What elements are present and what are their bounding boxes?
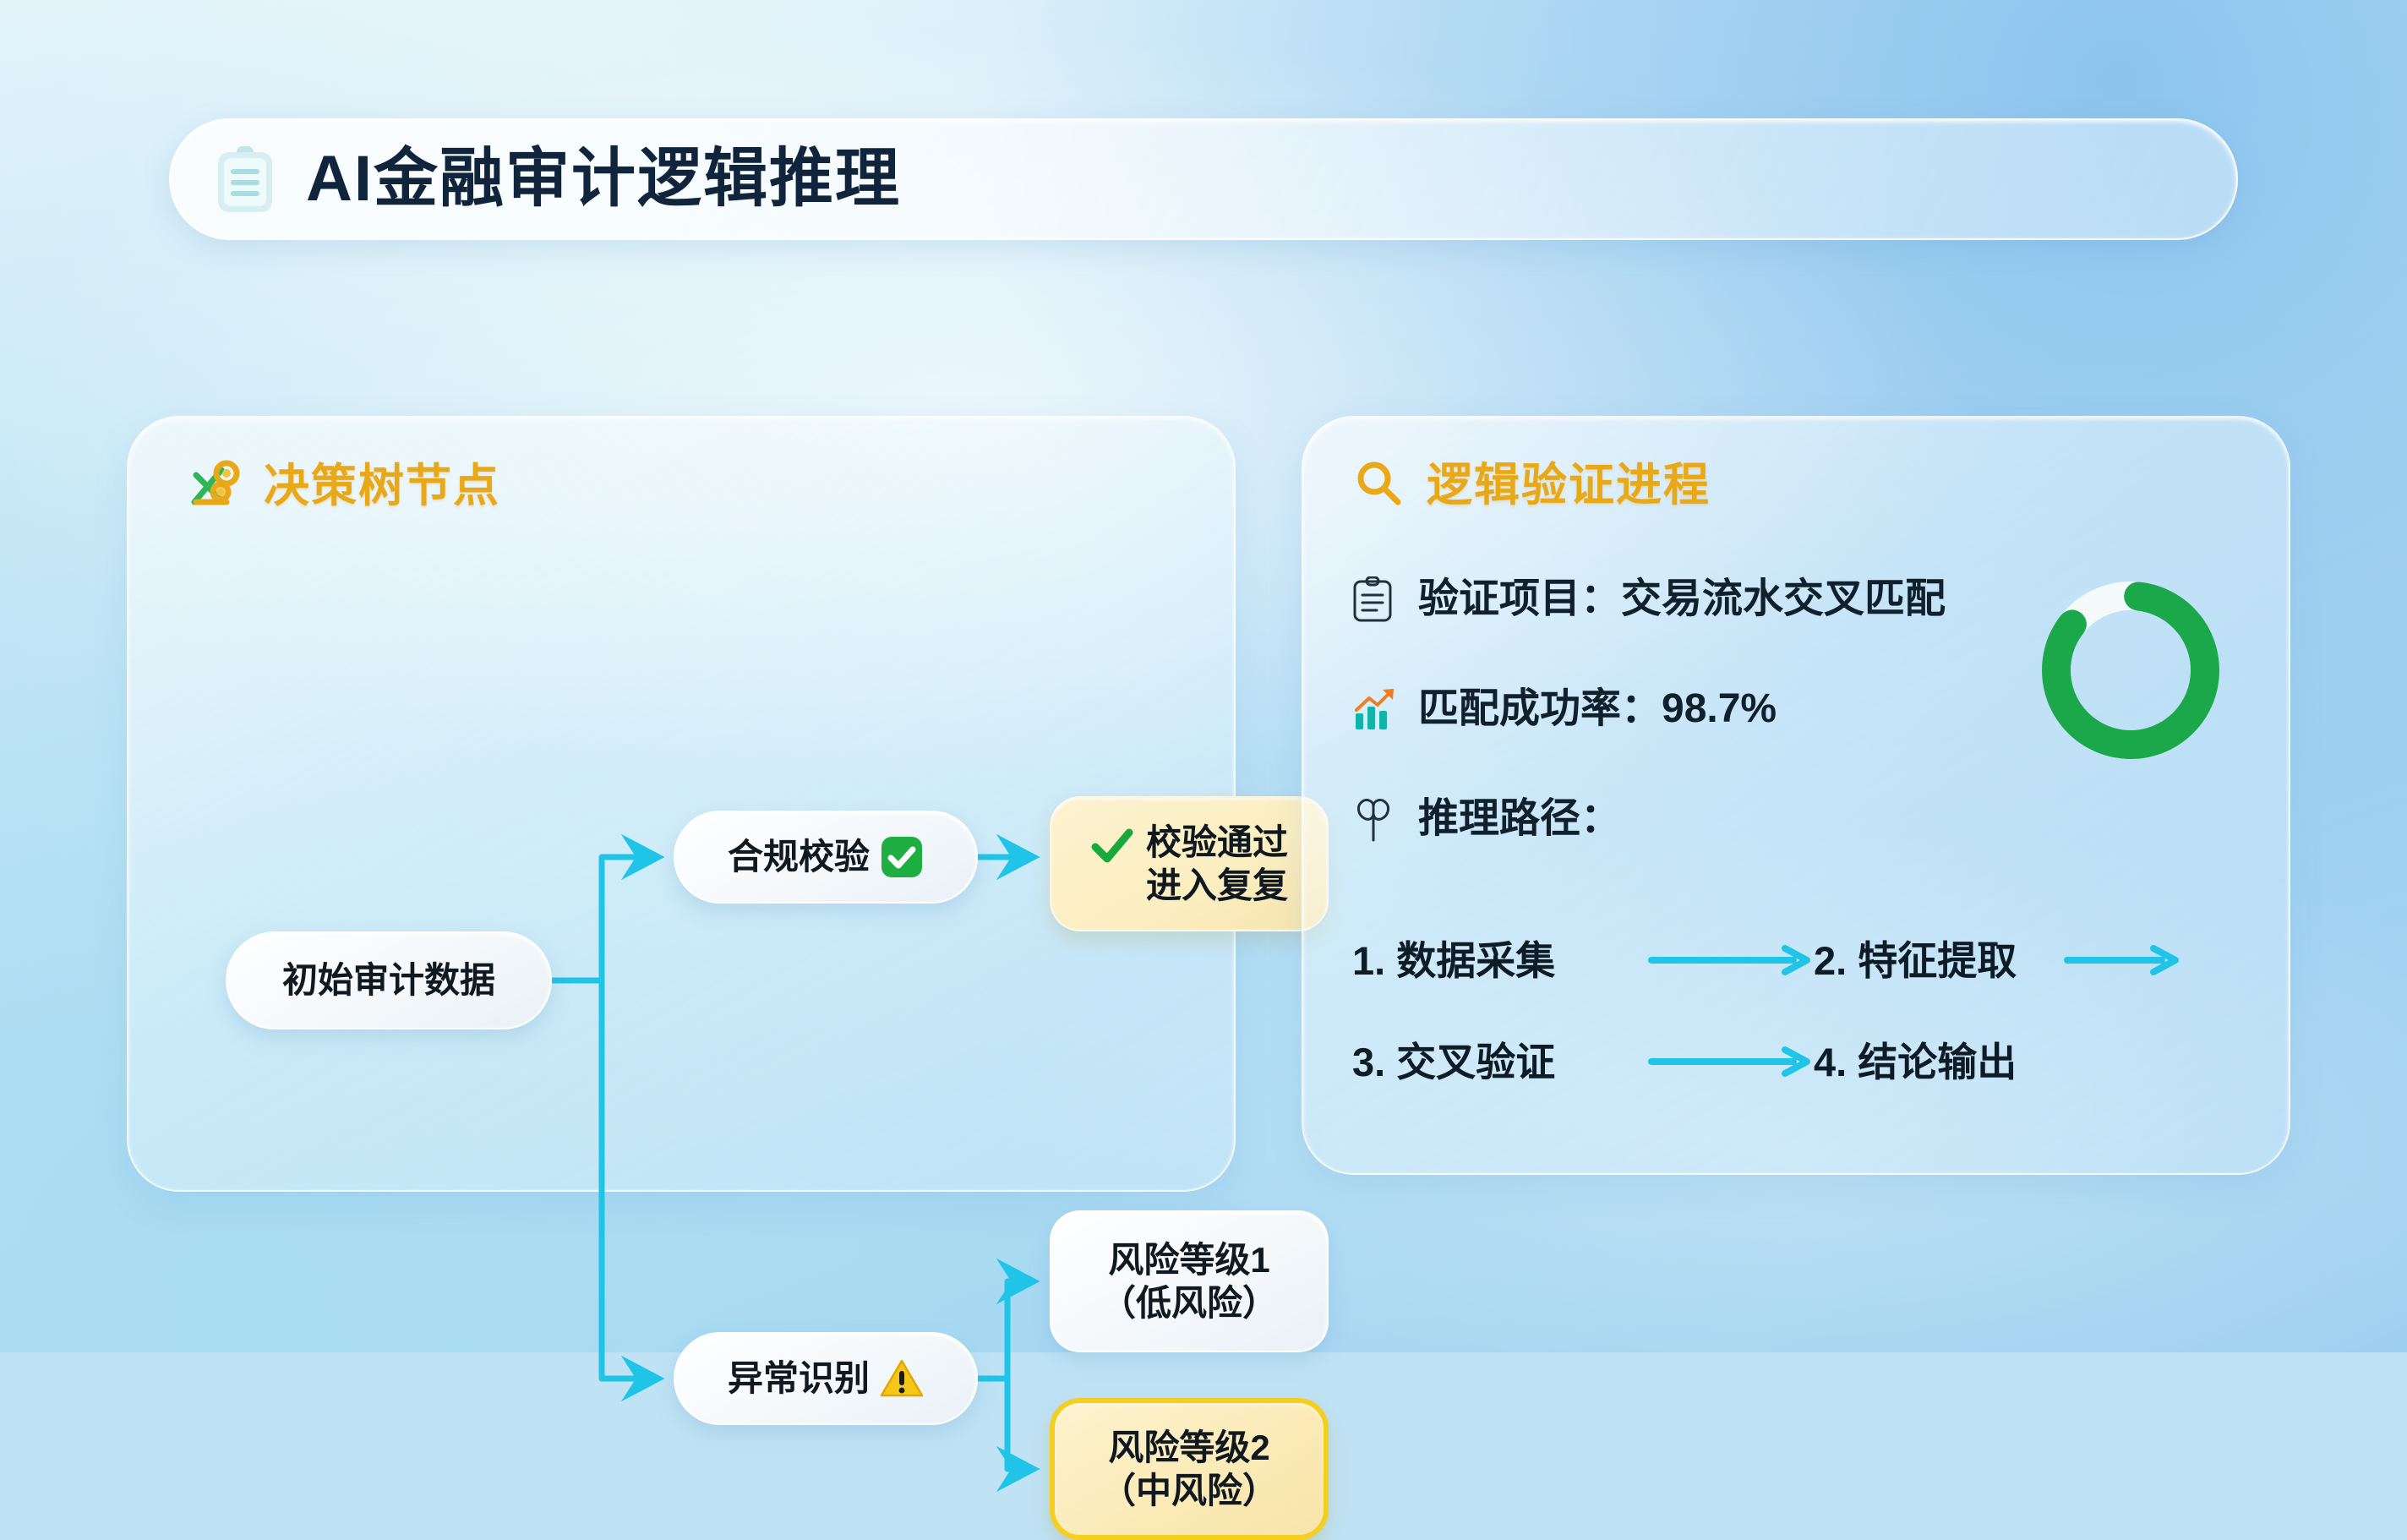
- tree-node-risk2-line1: 风险等级2: [1100, 1426, 1278, 1469]
- tree-node-risk-level-1[interactable]: 风险等级1 （低风险）: [1050, 1210, 1329, 1352]
- green-check-icon: [1090, 824, 1134, 868]
- clipboard-icon: [215, 145, 276, 214]
- tree-node-risk2-line2: （中风险）: [1100, 1469, 1278, 1512]
- clipboard-list-icon: [1352, 576, 1398, 622]
- tree-node-anomaly-label: 异常识别: [728, 1357, 870, 1400]
- match-rate-row: 匹配成功率：98.7%: [1352, 686, 1777, 732]
- reasoning-path-text: 推理路径：: [1418, 799, 1621, 839]
- match-rate-progress-ring: [2030, 570, 2231, 771]
- tree-node-root-label: 初始审计数据: [282, 958, 495, 1002]
- verification-progress-panel: 逻辑验证进程 验证项目：交易流水交叉匹配 匹配成功率：98.7%: [1302, 416, 2290, 1175]
- reasoning-step-3: 3. 交叉验证: [1352, 1042, 1648, 1082]
- tree-node-pass[interactable]: 校验通过 进入复复: [1050, 796, 1329, 931]
- chart-up-icon: [1352, 686, 1398, 732]
- tree-node-risk1-line1: 风险等级1: [1100, 1238, 1278, 1281]
- tree-node-anomaly[interactable]: 异常识别: [674, 1332, 978, 1425]
- step-arrow-icon-trailing: [2017, 943, 2182, 977]
- reasoning-step-2: 2. 特征提取: [1814, 941, 2017, 980]
- decision-tree: 初始审计数据 合规校验 异常识别: [128, 418, 1237, 1193]
- page-title: AI金融审计逻辑推理: [306, 147, 901, 211]
- tree-node-compliance[interactable]: 合规校验: [674, 811, 978, 904]
- tree-node-root[interactable]: 初始审计数据: [226, 931, 552, 1029]
- warning-triangle-icon: [880, 1357, 924, 1401]
- brain-icon: [1352, 796, 1398, 842]
- tree-node-pass-line1: 校验通过: [1146, 821, 1288, 864]
- reasoning-step-row: 3. 交叉验证 4. 结论输出: [1352, 1011, 2214, 1112]
- step-arrow-icon: [1648, 943, 1814, 977]
- reasoning-step-row: 1. 数据采集 2. 特征提取: [1352, 909, 2214, 1011]
- search-icon: [1354, 458, 1403, 511]
- tree-node-compliance-label: 合规校验: [728, 835, 870, 878]
- tree-node-risk-level-2[interactable]: 风险等级2 （中风险）: [1050, 1398, 1329, 1540]
- verification-item-text: 验证项目：交易流水交叉匹配: [1418, 579, 1946, 620]
- tree-node-risk1-line2: （低风险）: [1100, 1281, 1278, 1324]
- decision-tree-panel: 决策树节点: [127, 416, 1236, 1192]
- reasoning-path-row: 推理路径：: [1352, 796, 1621, 842]
- match-rate-text: 匹配成功率：98.7%: [1418, 689, 1777, 729]
- reasoning-step-1: 1. 数据采集: [1352, 941, 1648, 980]
- verification-item-row: 验证项目：交易流水交叉匹配: [1352, 576, 1946, 622]
- check-badge-icon: [880, 835, 924, 879]
- reasoning-steps: 1. 数据采集 2. 特征提取 3. 交叉验证: [1352, 909, 2214, 1112]
- reasoning-step-4: 4. 结论输出: [1814, 1042, 2017, 1082]
- tree-node-pass-line2: 进入复复: [1146, 864, 1288, 907]
- verification-progress-title: 逻辑验证进程: [1427, 462, 1711, 508]
- header-card: AI金融审计逻辑推理: [169, 118, 2238, 240]
- verification-progress-header: 逻辑验证进程: [1354, 458, 1711, 511]
- step-arrow-icon: [1648, 1045, 1814, 1079]
